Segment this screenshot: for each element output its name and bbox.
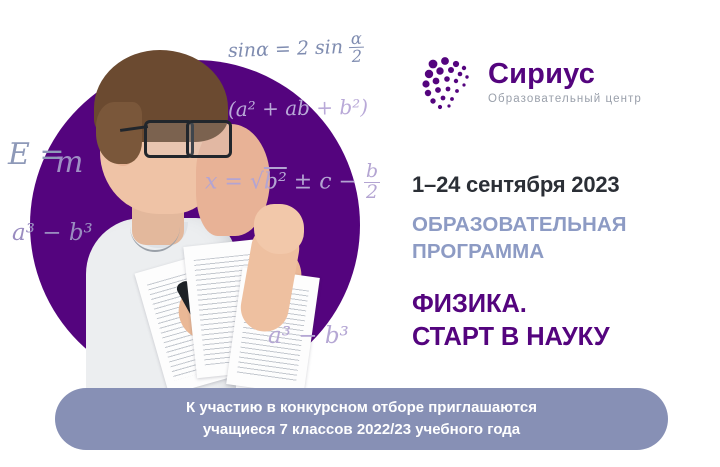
promo-banner: sinα = 2 sin α 2 E = m (a² + ab + b²) x … — [0, 0, 720, 467]
logo-text: Сириус Образовательный центр — [488, 60, 642, 106]
student-hair-side — [96, 102, 142, 164]
eligibility-text: К участию в конкурсном отборе приглашают… — [186, 397, 537, 441]
student-hand — [254, 204, 304, 254]
student-photo — [58, 28, 358, 428]
program-dates: 1–24 сентября 2023 — [412, 172, 619, 198]
logo-title: Сириус — [488, 60, 642, 89]
fraction: b 2 — [364, 162, 380, 203]
sirius-logo: Сириус Образовательный центр — [420, 55, 642, 111]
program-title: ФИЗИКА. СТАРТ В НАУКУ — [412, 288, 609, 353]
eligibility-line2: учащиеся 7 классов 2022/23 учебного года — [186, 419, 537, 441]
logo-subtitle: Образовательный центр — [488, 94, 642, 106]
eligibility-banner: К участию в конкурсном отборе приглашают… — [55, 388, 668, 450]
eligibility-line1: К участию в конкурсном отборе приглашают… — [186, 397, 537, 419]
program-type-line1: ОБРАЗОВАТЕЛЬНАЯ — [412, 212, 627, 239]
program-title-line1: ФИЗИКА. — [412, 288, 609, 321]
program-type-line2: ПРОГРАММА — [412, 239, 627, 266]
sirius-dots-logo-icon — [420, 55, 476, 111]
glasses-icon — [144, 120, 230, 154]
program-title-line2: СТАРТ В НАУКУ — [412, 321, 609, 354]
glasses-lens-right — [186, 120, 232, 158]
program-type: ОБРАЗОВАТЕЛЬНАЯ ПРОГРАММА — [412, 212, 627, 265]
